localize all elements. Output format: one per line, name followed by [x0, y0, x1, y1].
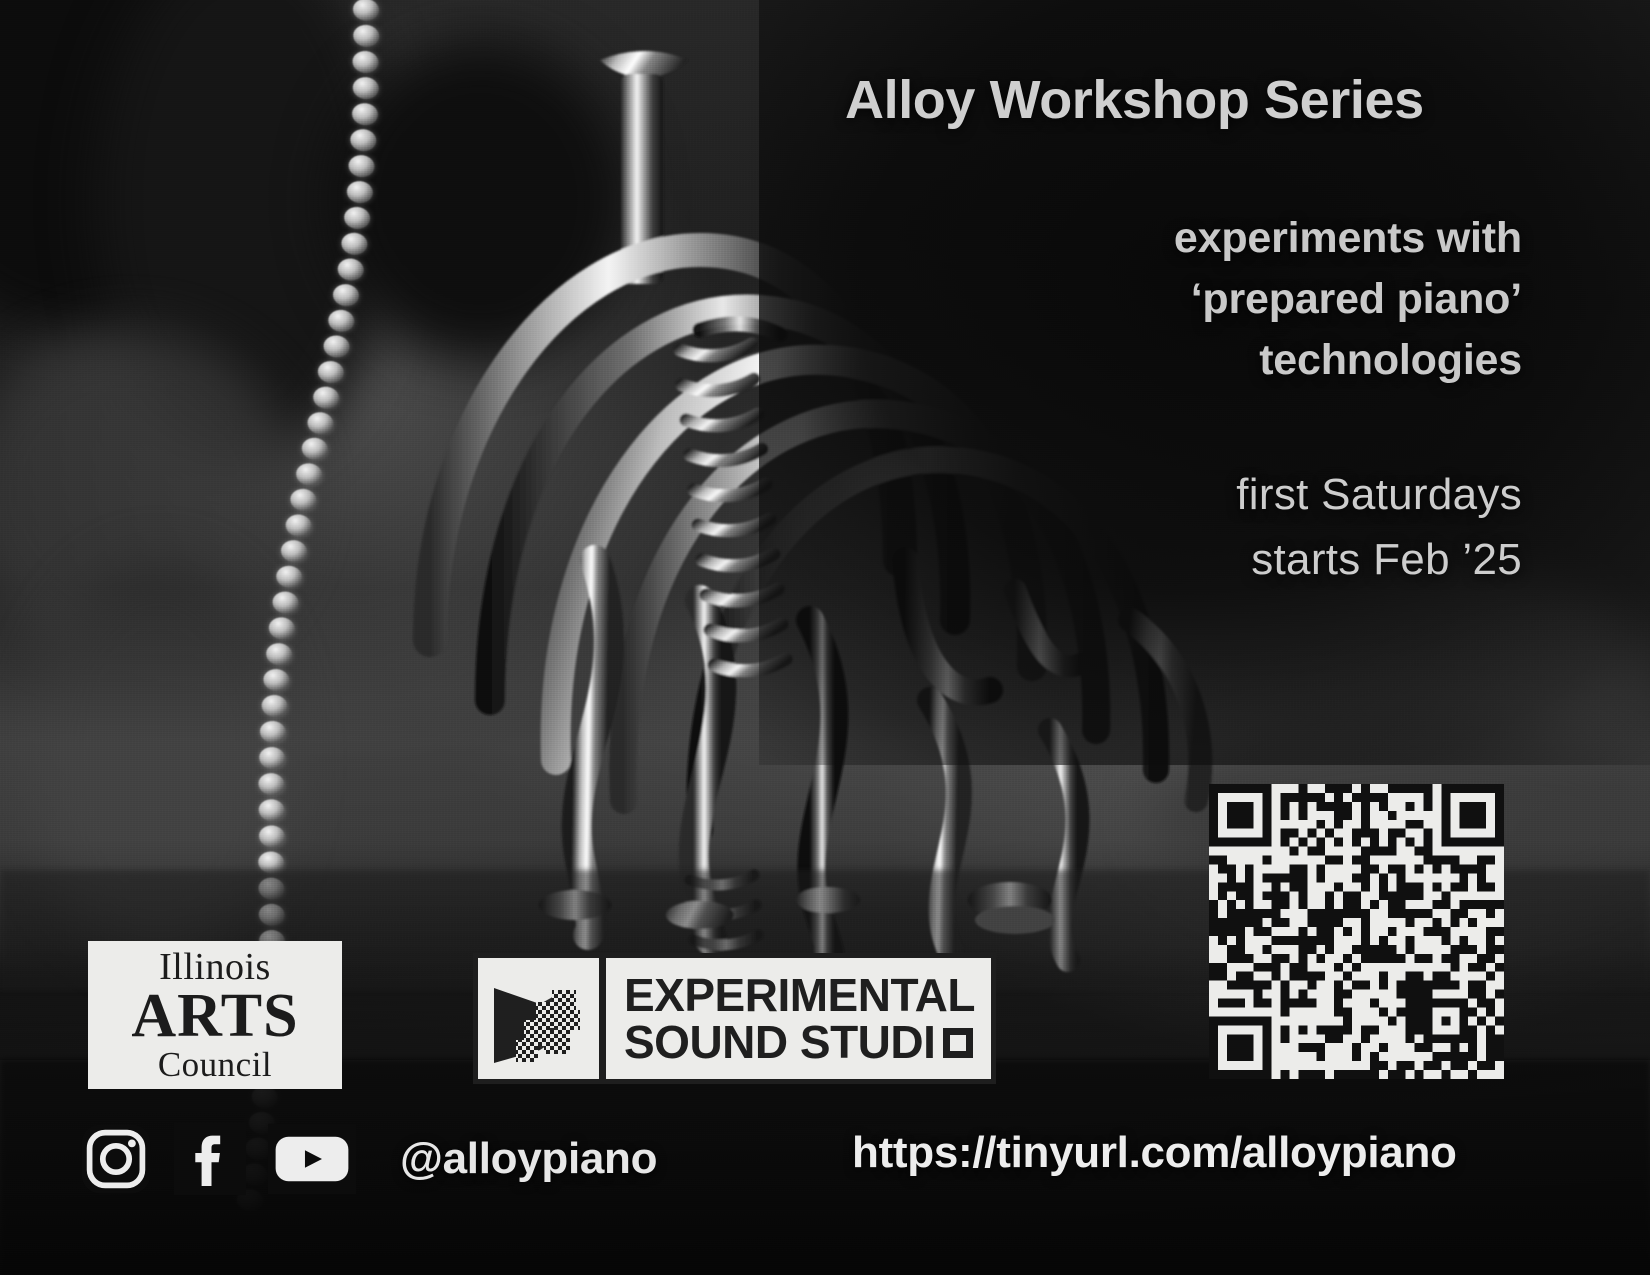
iac-line-arts: ARTS [131, 987, 298, 1046]
iac-line-council: Council [158, 1047, 272, 1082]
qr-code[interactable] [1209, 784, 1504, 1079]
ess-line-1: EXPERIMENTAL [624, 972, 975, 1019]
facebook-icon[interactable] [174, 1123, 246, 1195]
ess-line-2: SOUND STUDI [624, 1019, 935, 1066]
social-links: @alloypiano [80, 1114, 657, 1204]
illinois-arts-council-logo: Illinois ARTS Council [88, 941, 342, 1089]
schedule-line-1: first Saturdays [1002, 462, 1522, 527]
schedule-text: first Saturdays starts Feb ’25 [1002, 462, 1522, 592]
subtitle-line-3: technologies [962, 330, 1522, 391]
iac-line-illinois: Illinois [159, 948, 271, 986]
poster: Alloy Workshop Series experiments with ‘… [0, 0, 1650, 1275]
ess-line-2-wrapper: SOUND STUDI [624, 1019, 975, 1066]
page-title: Alloy Workshop Series [845, 72, 1545, 129]
schedule-line-2: starts Feb ’25 [1002, 527, 1522, 592]
subtitle-line-2: ‘prepared piano’ [962, 269, 1522, 330]
youtube-icon[interactable] [268, 1123, 356, 1195]
website-url[interactable]: https://tinyurl.com/alloypiano [852, 1128, 1457, 1178]
ess-divider [599, 958, 606, 1079]
social-handle[interactable]: @alloypiano [400, 1134, 657, 1184]
experimental-sound-studio-logo: EXPERIMENTAL SOUND STUDI [473, 953, 996, 1084]
ess-wordmark: EXPERIMENTAL SOUND STUDI [606, 958, 991, 1079]
instagram-icon[interactable] [80, 1123, 152, 1195]
square-o-icon [943, 1028, 973, 1058]
subtitle-line-1: experiments with [962, 208, 1522, 269]
subtitle: experiments with ‘prepared piano’ techno… [962, 208, 1522, 391]
ess-mark-icon [478, 958, 599, 1079]
